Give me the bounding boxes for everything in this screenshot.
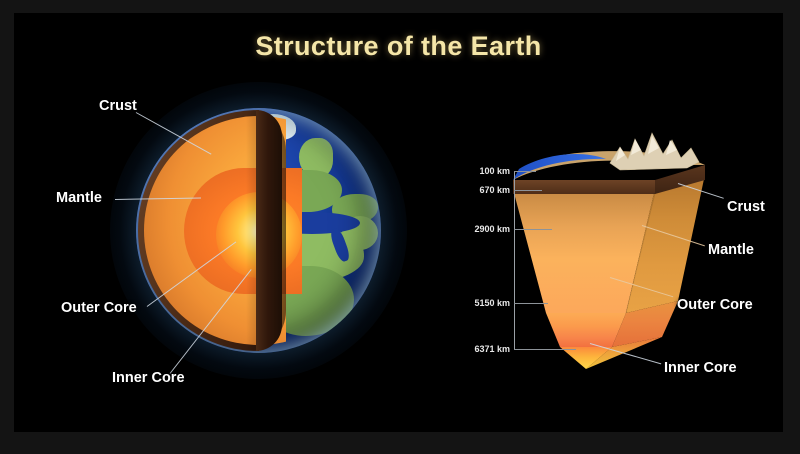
depth-label-6371: 6371 km [460,344,510,354]
image-frame: Structure of the Earth [0,0,800,454]
wedge-label-inner-core: Inner Core [664,360,737,376]
diagram-canvas: Structure of the Earth [14,13,783,432]
leader-line-inner-core-wedge [590,343,661,364]
depth-label-5150: 5150 km [460,298,510,308]
depth-tick-2900 [514,229,552,230]
depth-tick-670 [514,190,542,191]
leader-line-mantle-wedge [642,225,705,246]
depth-tick-100 [514,171,536,172]
depth-label-670: 670 km [466,185,510,195]
sphere-label-crust: Crust [99,98,137,114]
leader-line-outer-core-wedge [610,277,673,297]
sphere-label-mantle: Mantle [56,190,102,206]
wedge-label-outer-core: Outer Core [677,297,753,313]
depth-tick-5150 [514,303,548,304]
sphere-label-outer-core: Outer Core [61,300,137,316]
sphere-label-inner-core: Inner Core [112,370,185,386]
depth-label-2900: 2900 km [460,224,510,234]
wedge-label-mantle: Mantle [708,242,754,258]
earth-sphere-cutaway [136,108,381,353]
page-title: Structure of the Earth [14,31,783,62]
wedge-label-crust: Crust [727,199,765,215]
depth-label-100: 100 km [466,166,510,176]
depth-tick-6371 [514,349,576,350]
interior-cut-face [138,110,379,351]
depth-axis-line [514,171,515,349]
cut-edge-wall [256,110,282,351]
leader-line-crust-wedge [678,183,724,199]
